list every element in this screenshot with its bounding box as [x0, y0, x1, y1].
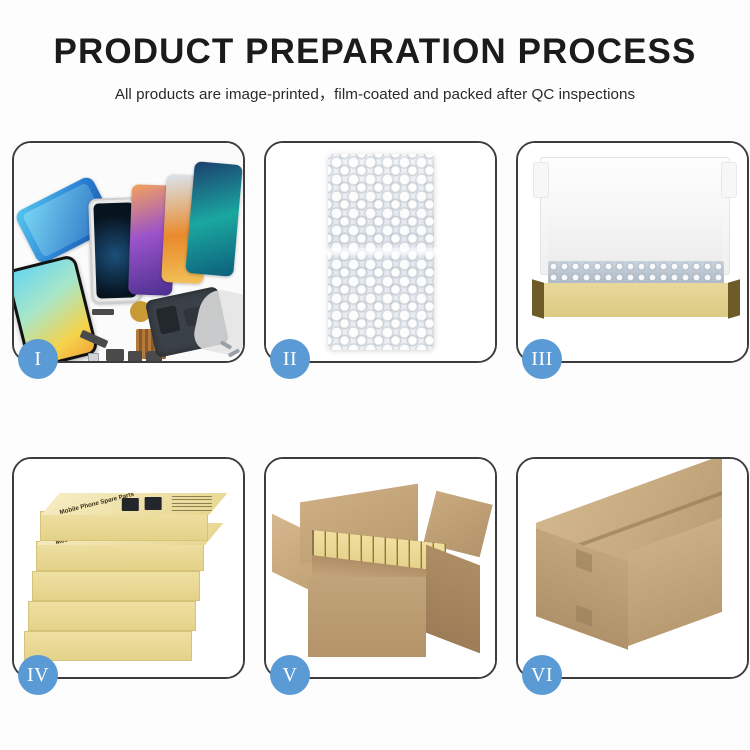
step-badge-6: VI	[522, 655, 562, 695]
phone-teal	[185, 161, 243, 277]
step-badge-1: I	[18, 339, 58, 379]
foam-sheet	[548, 201, 722, 265]
box-screen-thumb-1a	[122, 498, 139, 511]
carton-side-panel	[426, 545, 480, 654]
process-step-card-4: Mobile Phone Spare Parts Mobile Phone Sp…	[12, 457, 245, 679]
step-badge-5: V	[270, 655, 310, 695]
bubble-wrapped-product	[328, 154, 434, 350]
inner-box-photo	[518, 143, 747, 361]
bubble-wrap-photo	[266, 143, 495, 361]
page-title: PRODUCT PREPARATION PROCESS	[0, 34, 750, 71]
process-step-card-5: V	[264, 457, 497, 679]
sealed-carton-photo	[518, 459, 747, 677]
carton-front-panel	[308, 577, 426, 657]
stacked-box-1: Mobile Phone Spare Parts	[40, 511, 208, 541]
carton-tab-bottom	[576, 605, 592, 627]
step-badge-2: II	[270, 339, 310, 379]
header: PRODUCT PREPARATION PROCESS All products…	[0, 0, 750, 104]
step-3-image	[518, 143, 747, 361]
process-step-card-6: VI	[516, 457, 749, 679]
step-4-image: Mobile Phone Spare Parts Mobile Phone Sp…	[14, 459, 243, 677]
kraft-box-body	[542, 283, 730, 317]
stacked-box-5	[24, 631, 192, 661]
process-step-card-3: III	[516, 141, 749, 363]
process-step-card-2: II	[264, 141, 497, 363]
stacked-box-1-top: Mobile Phone Spare Parts	[41, 493, 227, 515]
page-subtitle: All products are image-printed，film-coat…	[0, 82, 750, 104]
part-connector	[88, 353, 99, 361]
step-badge-4: IV	[18, 655, 58, 695]
carton-tab-top	[576, 549, 592, 573]
box-text-lines-1	[172, 496, 212, 513]
labelled-boxes-photo: Mobile Phone Spare Parts Mobile Phone Sp…	[14, 459, 243, 677]
process-step-card-1: I	[12, 141, 245, 363]
products-photo	[14, 143, 243, 361]
box-stack: Mobile Phone Spare Parts Mobile Phone Sp…	[20, 481, 240, 671]
stacked-box-2: Mobile Phone Spare Parts	[36, 541, 204, 571]
part-camera	[106, 349, 124, 361]
step-badge-3: III	[522, 339, 562, 379]
stacked-box-3	[32, 571, 200, 601]
step-1-image	[14, 143, 243, 361]
backplate-camera-module	[156, 305, 181, 335]
stacked-box-4	[28, 601, 196, 631]
step-6-image	[518, 459, 747, 677]
part-button	[128, 351, 142, 361]
cartoning-photo	[266, 459, 495, 677]
box-screen-thumb-1b	[145, 497, 162, 510]
step-5-image	[266, 459, 495, 677]
process-step-grid: I II III	[12, 141, 738, 679]
step-2-image	[266, 143, 495, 361]
part-strip	[92, 309, 114, 315]
